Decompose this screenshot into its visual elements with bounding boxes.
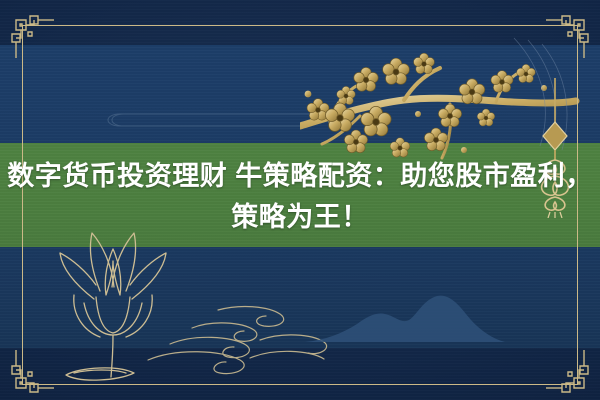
poster-headline: 数字货币投资理财 牛策略配资：助您股市盈利，策略为王！ bbox=[4, 156, 596, 238]
poster-banner: 数字货币投资理财 牛策略配资：助您股市盈利，策略为王！ bbox=[0, 0, 600, 400]
